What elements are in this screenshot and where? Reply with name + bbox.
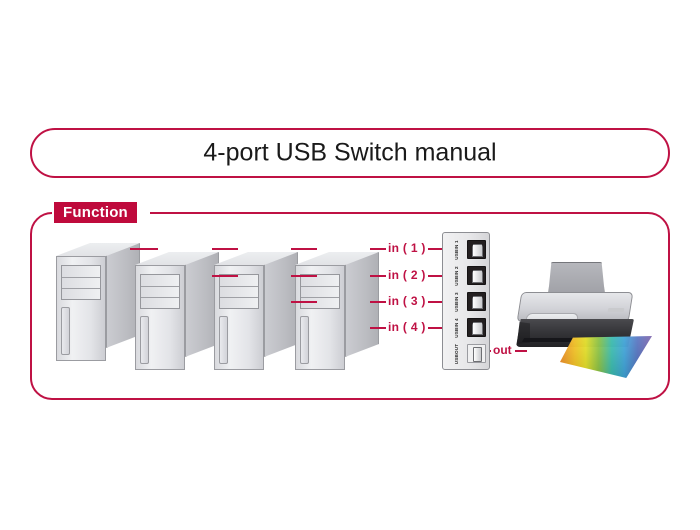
- printer-paper-tray: [548, 262, 605, 296]
- wire-in3-label-left: [370, 301, 386, 303]
- port-label-in3: USBIN 3: [448, 293, 466, 311]
- switch-port-in1[interactable]: USBIN 1: [447, 239, 489, 261]
- port-label-in2: USBIN 2: [448, 267, 466, 285]
- switch-port-in3[interactable]: USBIN 3: [447, 291, 489, 313]
- printer-scanner: [508, 262, 658, 382]
- printer-badge: [608, 308, 625, 312]
- switch-port-in2[interactable]: USBIN 2: [447, 265, 489, 287]
- tower-front-panel: [140, 316, 149, 364]
- page-canvas: 4-port USB Switch manual Function: [0, 0, 700, 530]
- wire-in1-label-left: [370, 248, 386, 250]
- switch-port-out[interactable]: USBOUT: [447, 343, 489, 365]
- section-tag-function: Function: [54, 202, 137, 223]
- usb-b-jack-icon: [467, 240, 486, 259]
- tower-side-face: [264, 252, 298, 357]
- usb-b-jack-icon: [467, 318, 486, 337]
- tower-side-face: [345, 252, 379, 357]
- tower-front-panel: [61, 307, 70, 355]
- computer-tower-1: [56, 243, 140, 361]
- usb-b-jack-icon: [467, 292, 486, 311]
- label-in-4: in ( 4 ): [388, 320, 426, 334]
- computer-tower-3: [214, 252, 298, 370]
- title-box: 4-port USB Switch manual: [30, 128, 670, 178]
- computer-tower-2: [135, 252, 219, 370]
- label-in-1: in ( 1 ): [388, 241, 426, 255]
- tower-front-panel: [219, 316, 228, 364]
- label-in-2: in ( 2 ): [388, 268, 426, 282]
- port-label-in4: USBIN 4: [448, 319, 466, 337]
- wire-tower3-to-tower4: [291, 248, 317, 250]
- port-label-out: USBOUT: [448, 345, 466, 363]
- wire-in2-segment-a: [212, 275, 238, 277]
- label-in-3: in ( 3 ): [388, 294, 426, 308]
- switch-port-in4[interactable]: USBIN 4: [447, 317, 489, 339]
- tower-drive-bays: [140, 274, 180, 309]
- port-label-in1: USBIN 1: [448, 241, 466, 259]
- tower-drive-bays: [61, 265, 101, 300]
- wire-in4-label-left: [370, 327, 386, 329]
- usb-switch-device: USBIN 1 USBIN 2 USBIN 3 USBIN 4 USBOUT: [442, 232, 490, 370]
- usb-b-jack-icon: [467, 266, 486, 285]
- usb-a-jack-icon: [467, 344, 486, 363]
- wire-in3-segment-a: [291, 301, 317, 303]
- tower-drive-bays: [219, 274, 259, 309]
- wire-in2-segment-b: [291, 275, 317, 277]
- wire-in2-label-left: [370, 275, 386, 277]
- wire-tower2-to-tower3: [212, 248, 238, 250]
- page-title: 4-port USB Switch manual: [32, 139, 668, 168]
- printed-page-shading: [560, 336, 652, 378]
- tower-drive-bays: [300, 274, 340, 309]
- wire-tower1-to-tower2: [130, 248, 158, 250]
- computer-tower-4: [295, 252, 379, 370]
- tower-front-panel: [300, 316, 309, 364]
